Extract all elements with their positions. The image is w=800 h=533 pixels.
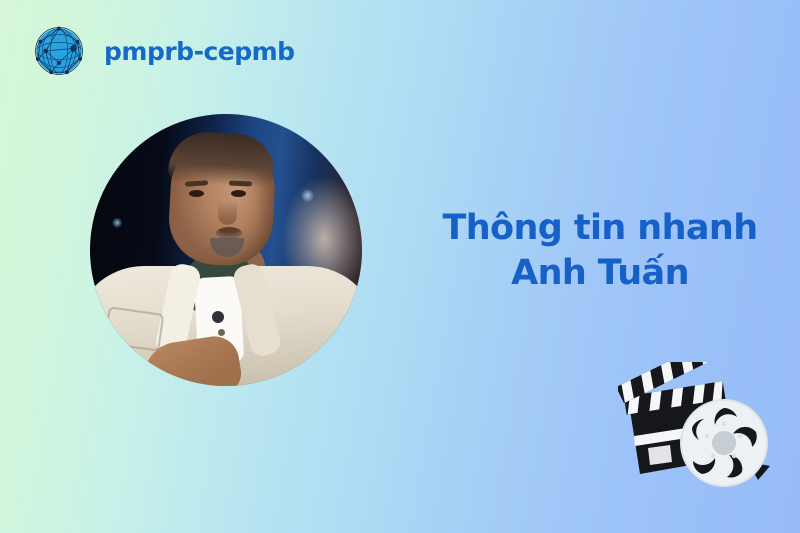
logo-wordmark: pmprb-cepmb bbox=[104, 39, 295, 64]
film-reel-icon bbox=[681, 400, 770, 486]
portrait-button bbox=[218, 329, 225, 336]
portrait-photo bbox=[90, 114, 362, 386]
title-line-1: Thông tin nhanh bbox=[420, 206, 780, 251]
title-line-2: Anh Tuấn bbox=[420, 251, 780, 296]
portrait-eye-left bbox=[189, 190, 204, 197]
film-decoration bbox=[618, 362, 788, 492]
site-logo[interactable]: pmprb-cepmb bbox=[26, 18, 295, 84]
portrait-eye-right bbox=[231, 190, 246, 197]
portrait-pocket bbox=[104, 306, 165, 351]
portrait-brow-left bbox=[185, 180, 208, 187]
portrait-brow-right bbox=[229, 180, 252, 186]
portrait-nose bbox=[218, 201, 237, 225]
network-globe-icon bbox=[26, 18, 92, 84]
portrait-avatar bbox=[90, 114, 362, 386]
portrait-hair bbox=[168, 130, 277, 187]
page-title: Thông tin nhanh Anh Tuấn bbox=[420, 206, 780, 296]
promo-banner: pmprb-cepmb Thông tin nhanh A bbox=[0, 0, 800, 533]
